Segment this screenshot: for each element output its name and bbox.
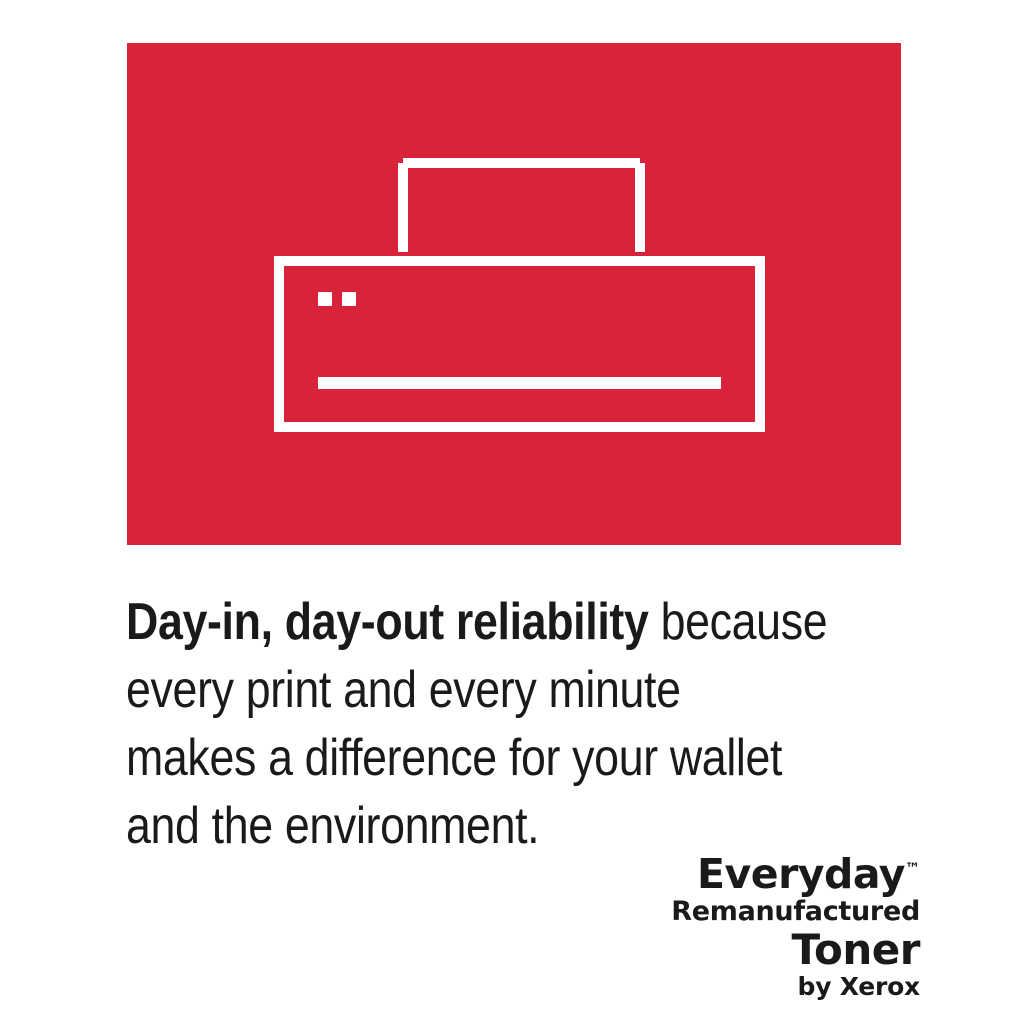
hero-panel [127,43,901,545]
copy-line-1-strong: Day-in, day-out reliability [126,593,648,651]
brand-everyday-text: Everyday [697,850,905,898]
trademark-icon: ™ [905,859,920,877]
brand-remanufactured-line: Remanufactured [560,896,920,927]
brand-everyday-line: Everyday™ [560,852,920,896]
brand-lockup: Everyday™ Remanufactured Toner by Xerox [560,852,920,1001]
copy-line-2: every print and every minute [126,656,814,724]
copy-block: Day-in, day-out reliability because ever… [126,588,926,860]
printer-icon [127,43,901,545]
brand-by-xerox-line: by Xerox [560,973,920,1001]
brand-toner-line: Toner [560,927,920,973]
copy-line-1-normal: because [648,593,827,651]
advertisement-card: Day-in, day-out reliability because ever… [0,0,1024,1024]
copy-line-1: Day-in, day-out reliability because [126,588,814,656]
copy-line-3: makes a difference for your wallet [126,724,814,792]
